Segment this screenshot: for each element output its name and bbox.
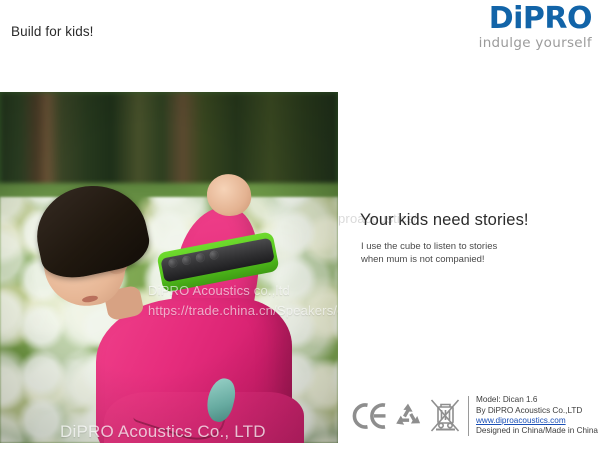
photo-vignette — [0, 92, 338, 443]
company-label: By DiPRO Acoustics Co.,LTD — [476, 406, 598, 416]
footer-divider — [468, 396, 469, 436]
certification-marks — [352, 398, 460, 434]
product-slide: Build for kids! DiPRO indulge yourself — [0, 0, 600, 453]
brand-tagline: indulge yourself — [479, 37, 592, 51]
compliance-footer: Model: Dican 1.6 By DiPRO Acoustics Co.,… — [352, 394, 598, 438]
origin-label: Designed in China/Made in China — [476, 426, 598, 436]
body-copy-line-2: when mum is not companied! — [361, 254, 497, 267]
photo-scene — [0, 92, 338, 443]
legal-info: Model: Dican 1.6 By DiPRO Acoustics Co.,… — [476, 395, 598, 437]
brand-logo: DiPRO indulge yourself — [479, 4, 592, 51]
product-lifestyle-photo: DiPRO Acoustics co.,ltd https://trade.ch… — [0, 92, 338, 443]
body-copy-line-1: I use the cube to listen to stories — [361, 241, 497, 254]
headline: Your kids need stories! — [360, 211, 529, 230]
body-copy: I use the cube to listen to stories when… — [361, 241, 497, 266]
weee-crossed-bin-icon — [430, 398, 460, 434]
page-title: Build for kids! — [11, 24, 94, 39]
model-label: Model: Dican 1.6 — [476, 395, 598, 405]
brand-name: DiPRO — [479, 4, 592, 34]
website-link[interactable]: www.diproacoustics.com — [476, 416, 598, 426]
ce-mark-icon — [352, 401, 386, 431]
recycling-mobius-icon — [394, 402, 422, 430]
